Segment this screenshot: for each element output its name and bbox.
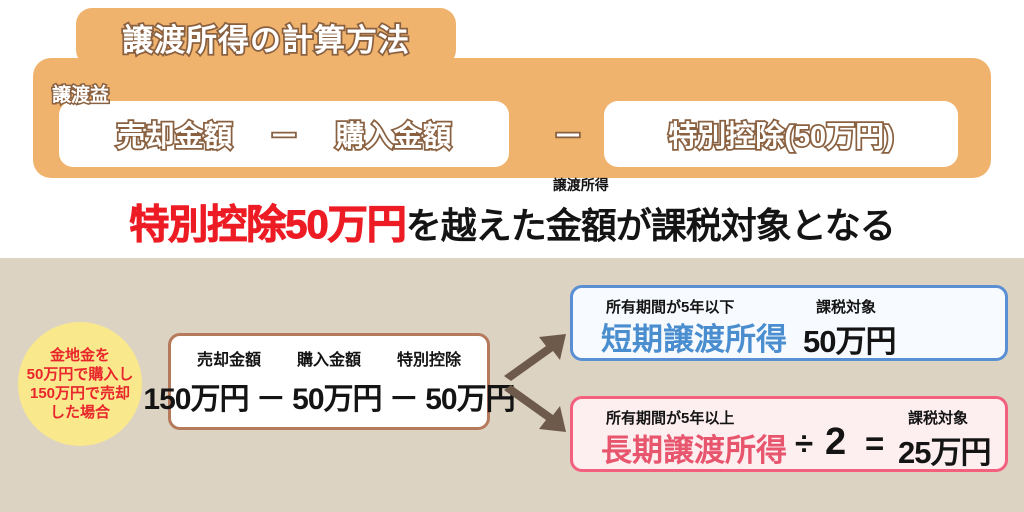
gain-label: 譲渡益	[52, 80, 109, 107]
formula-value-sale: 150万円	[143, 374, 248, 418]
example-formula-box: 売却金額 購入金額 特別控除 150万円 － 50万円 － 50万円	[168, 333, 490, 430]
case-line: 金地金を	[50, 346, 110, 365]
headline-red-text: 特別控除50万円	[129, 192, 406, 250]
formula-values-row: 150万円 － 50万円 － 50万円	[171, 374, 487, 418]
header-minus-sign: －	[540, 101, 596, 167]
gain-formula-text: 売却金額 － 購入金額	[116, 113, 451, 155]
gain-formula-box: 売却金額 － 購入金額	[59, 101, 509, 167]
short-term-result-box: 所有期間が5年以下 短期譲渡所得 課税対象 50万円	[570, 285, 1008, 361]
case-line: 50万円で購入し	[27, 365, 134, 384]
title-tab: 譲渡所得の計算方法	[76, 8, 456, 66]
equals-operator: =	[865, 425, 884, 463]
case-line: した場合	[50, 403, 110, 422]
short-term-amount: 50万円	[803, 316, 895, 361]
short-term-title: 短期譲渡所得	[601, 314, 787, 359]
deduction-text: 特別控除(50万円)	[668, 113, 894, 155]
case-circle: 金地金を 50万円で購入し 150万円で売却 した場合	[18, 322, 142, 446]
formula-label-deduction: 特別控除	[397, 346, 461, 370]
short-term-amount-label: 課税対象	[816, 296, 876, 317]
long-term-amount: 25万円	[898, 427, 990, 472]
ruby-group: 譲渡所得 金額	[546, 197, 616, 249]
formula-label-sale: 売却金額	[197, 346, 261, 370]
top-formula-section: 譲渡所得の計算方法 譲渡益 売却金額 － 購入金額 － 特別控除(50万円) 特…	[0, 0, 1024, 258]
headline-black-text-2: が課税対象となる	[616, 197, 895, 249]
long-term-amount-label: 課税対象	[908, 407, 968, 428]
formula-labels-row: 売却金額 購入金額 特別控除	[171, 346, 487, 370]
formula-label-purchase: 購入金額	[297, 346, 361, 370]
long-term-title: 長期譲渡所得	[601, 425, 787, 470]
formula-value-purchase: 50万円	[292, 374, 381, 418]
arrow-up-right-icon	[500, 332, 570, 384]
formula-op-2: －	[382, 374, 426, 418]
headline: 特別控除50万円 を越えた 譲渡所得 金額 が課税対象となる	[0, 190, 1024, 250]
long-term-result-box: 所有期間が5年以上 長期譲渡所得 ÷ 2 = 課税対象 25万円	[570, 396, 1008, 472]
formula-op-1: －	[248, 374, 292, 418]
headline-black-text-1: を越えた	[406, 197, 546, 249]
deduction-box: 特別控除(50万円)	[604, 101, 958, 167]
divide-operator: ÷	[795, 425, 813, 463]
divisor-value: 2	[825, 421, 845, 464]
page-title: 譲渡所得の計算方法	[76, 8, 456, 66]
case-line: 150万円で売却	[30, 384, 130, 403]
ruby-annotation: 譲渡所得	[553, 175, 609, 195]
ruby-base-text: 金額	[546, 197, 616, 249]
arrow-down-right-icon	[500, 382, 570, 434]
